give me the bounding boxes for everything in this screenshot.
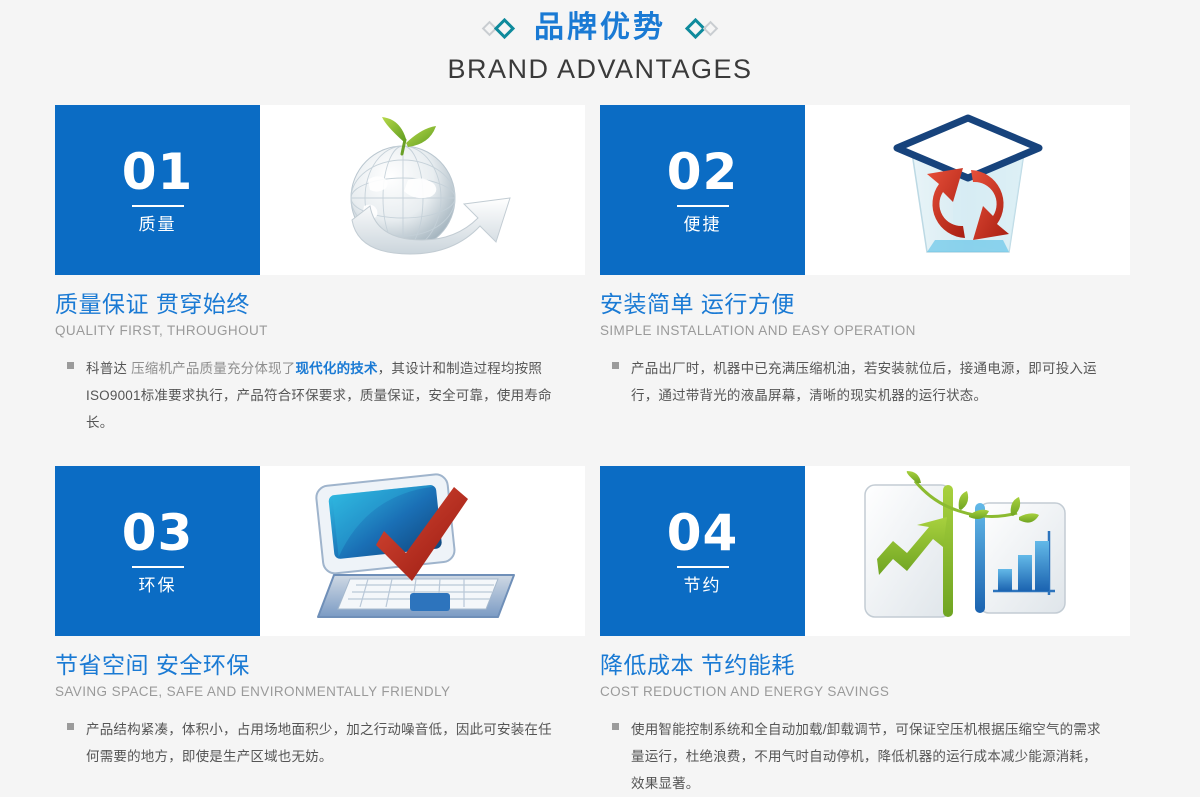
card-keyword: 节约 bbox=[684, 575, 722, 597]
card-number: 01 bbox=[122, 145, 194, 199]
card-description-text: 产品结构紧凑，体积小，占用场地面积少，加之行动噪音低，因此可安装在任何需要的地方… bbox=[86, 716, 556, 770]
card-number-block: 03 环保 bbox=[55, 466, 260, 636]
advantage-card-grid: 01 质量 bbox=[55, 105, 1145, 797]
card-description: 产品结构紧凑，体积小，占用场地面积少，加之行动噪音低，因此可安装在任何需要的地方… bbox=[55, 716, 585, 770]
card-number: 04 bbox=[667, 506, 739, 560]
section-header: 品牌优势 BRAND ADVANTAGES bbox=[0, 0, 1200, 86]
section-title-row: 品牌优势 bbox=[0, 8, 1200, 48]
divider bbox=[677, 205, 729, 207]
card-body: 质量保证 贯穿始终 QUALITY FIRST, THROUGHOUT 科普达 … bbox=[55, 275, 585, 436]
globe-sprout-arrow-icon bbox=[260, 105, 585, 275]
square-bullet-icon bbox=[612, 362, 619, 369]
card-description-text: 使用智能控制系统和全自动加载/卸载调节，可保证空压机根据压缩空气的需求量运行，杜… bbox=[631, 716, 1101, 797]
card-description: 产品出厂时，机器中已充满压缩机油，若安装就位后，接通电源，即可投入运行，通过带背… bbox=[600, 355, 1130, 409]
card-title: 安装简单 运行方便 bbox=[600, 289, 1130, 319]
card-subtitle: SAVING SPACE, SAFE AND ENVIRONMENTALLY F… bbox=[55, 682, 585, 702]
card-description: 科普达 压缩机产品质量充分体现了现代化的技术，其设计和制造过程均按照ISO900… bbox=[55, 355, 585, 436]
card-body: 安装简单 运行方便 SIMPLE INSTALLATION AND EASY O… bbox=[600, 275, 1130, 409]
card-number: 03 bbox=[122, 506, 194, 560]
growth-chart-panels-vine-icon bbox=[805, 466, 1130, 636]
card-description-text: 产品出厂时，机器中已充满压缩机油，若安装就位后，接通电源，即可投入运行，通过带背… bbox=[631, 355, 1101, 409]
square-bullet-icon bbox=[67, 362, 74, 369]
divider bbox=[132, 205, 184, 207]
advantage-card[interactable]: 02 便捷 bbox=[600, 105, 1130, 436]
divider bbox=[677, 566, 729, 568]
laptop-checkmark-icon bbox=[260, 466, 585, 636]
card-title: 降低成本 节约能耗 bbox=[600, 650, 1130, 680]
card-number-block: 01 质量 bbox=[55, 105, 260, 275]
card-header-strip: 03 环保 bbox=[55, 466, 585, 636]
brand-advantages-page: 品牌优势 BRAND ADVANTAGES 01 质量 bbox=[0, 0, 1200, 774]
card-title: 质量保证 贯穿始终 bbox=[55, 289, 585, 319]
square-bullet-icon bbox=[67, 723, 74, 730]
page-title-cn: 品牌优势 bbox=[534, 8, 666, 48]
card-header-strip: 01 质量 bbox=[55, 105, 585, 275]
card-header-strip: 04 节约 bbox=[600, 466, 1130, 636]
card-description: 使用智能控制系统和全自动加载/卸载调节，可保证空压机根据压缩空气的需求量运行，杜… bbox=[600, 716, 1130, 797]
diamond-outline-gray-icon bbox=[703, 20, 719, 36]
card-subtitle: COST REDUCTION AND ENERGY SAVINGS bbox=[600, 682, 1130, 702]
advantage-card[interactable]: 01 质量 bbox=[55, 105, 585, 436]
page-title-en: BRAND ADVANTAGES bbox=[0, 52, 1200, 86]
card-title: 节省空间 安全环保 bbox=[55, 650, 585, 680]
square-bullet-icon bbox=[612, 723, 619, 730]
advantage-card[interactable]: 04 节约 bbox=[600, 466, 1130, 797]
card-subtitle: QUALITY FIRST, THROUGHOUT bbox=[55, 321, 585, 341]
diamond-decoration-right bbox=[688, 21, 716, 36]
card-number-block: 04 节约 bbox=[600, 466, 805, 636]
card-body: 降低成本 节约能耗 COST REDUCTION AND ENERGY SAVI… bbox=[600, 636, 1130, 797]
card-description-text: 科普达 压缩机产品质量充分体现了现代化的技术，其设计和制造过程均按照ISO900… bbox=[86, 355, 556, 436]
card-keyword: 质量 bbox=[139, 214, 177, 236]
card-number: 02 bbox=[667, 145, 739, 199]
card-subtitle: SIMPLE INSTALLATION AND EASY OPERATION bbox=[600, 321, 1130, 341]
card-header-strip: 02 便捷 bbox=[600, 105, 1130, 275]
card-number-block: 02 便捷 bbox=[600, 105, 805, 275]
card-keyword: 便捷 bbox=[684, 214, 722, 236]
diamond-outline-teal-icon bbox=[494, 17, 515, 38]
recycle-bin-arrows-icon bbox=[805, 105, 1130, 275]
card-body: 节省空间 安全环保 SAVING SPACE, SAFE AND ENVIRON… bbox=[55, 636, 585, 770]
advantage-card[interactable]: 03 环保 bbox=[55, 466, 585, 797]
divider bbox=[132, 566, 184, 568]
diamond-decoration-left bbox=[484, 21, 512, 36]
card-keyword: 环保 bbox=[139, 575, 177, 597]
